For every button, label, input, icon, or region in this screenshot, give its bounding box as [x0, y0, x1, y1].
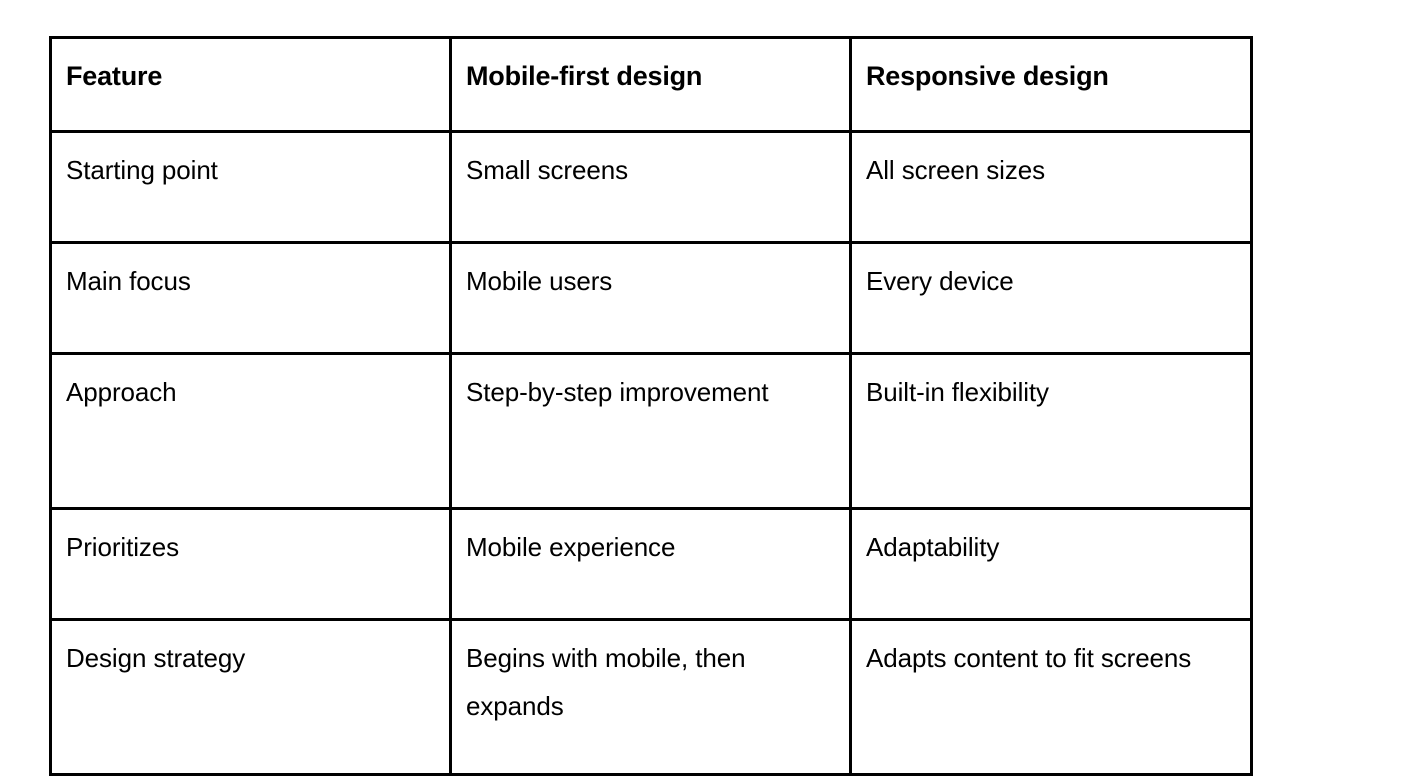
- cell-mobile-first: Begins with mobile, then expands: [451, 620, 851, 775]
- cell-feature-text: Approach: [66, 368, 435, 416]
- cell-feature: Approach: [51, 354, 451, 509]
- cell-responsive: Every device: [851, 243, 1252, 354]
- cell-mobile-first-text: Mobile users: [466, 257, 835, 305]
- table-body: Starting point Small screens All screen …: [51, 132, 1252, 775]
- page-canvas: Feature Mobile-first design Responsive d…: [0, 0, 1414, 644]
- cell-feature: Prioritizes: [51, 509, 451, 620]
- cell-mobile-first-text: Small screens: [466, 146, 835, 194]
- cell-responsive: Adapts content to fit screens: [851, 620, 1252, 775]
- column-header-feature-label: Feature: [66, 52, 435, 100]
- cell-feature-text: Starting point: [66, 146, 435, 194]
- cell-responsive-text: Built-in flexibility: [866, 368, 1236, 416]
- cell-responsive: All screen sizes: [851, 132, 1252, 243]
- comparison-table: Feature Mobile-first design Responsive d…: [49, 36, 1253, 776]
- cell-mobile-first-text: Step-by-step improvement: [466, 368, 835, 416]
- cell-feature-text: Main focus: [66, 257, 435, 305]
- table-header-row: Feature Mobile-first design Responsive d…: [51, 38, 1252, 132]
- column-header-responsive: Responsive design: [851, 38, 1252, 132]
- table-row: Approach Step-by-step improvement Built-…: [51, 354, 1252, 509]
- column-header-feature: Feature: [51, 38, 451, 132]
- cell-mobile-first-text: Begins with mobile, then expands: [466, 634, 835, 730]
- table-row: Design strategy Begins with mobile, then…: [51, 620, 1252, 775]
- cell-mobile-first: Mobile experience: [451, 509, 851, 620]
- column-header-mobile-first-label: Mobile-first design: [466, 52, 835, 100]
- cell-responsive: Built-in flexibility: [851, 354, 1252, 509]
- cell-responsive: Adaptability: [851, 509, 1252, 620]
- cell-responsive-text: Every device: [866, 257, 1236, 305]
- cell-feature: Design strategy: [51, 620, 451, 775]
- cell-feature: Main focus: [51, 243, 451, 354]
- table-row: Starting point Small screens All screen …: [51, 132, 1252, 243]
- table-row: Prioritizes Mobile experience Adaptabili…: [51, 509, 1252, 620]
- cell-feature-text: Design strategy: [66, 634, 435, 682]
- table-row: Main focus Mobile users Every device: [51, 243, 1252, 354]
- table-header: Feature Mobile-first design Responsive d…: [51, 38, 1252, 132]
- cell-mobile-first: Small screens: [451, 132, 851, 243]
- cell-feature: Starting point: [51, 132, 451, 243]
- cell-responsive-text: Adapts content to fit screens: [866, 634, 1236, 682]
- cell-responsive-text: All screen sizes: [866, 146, 1236, 194]
- cell-mobile-first: Step-by-step improvement: [451, 354, 851, 509]
- cell-responsive-text: Adaptability: [866, 523, 1236, 571]
- column-header-responsive-label: Responsive design: [866, 52, 1236, 100]
- cell-mobile-first-text: Mobile experience: [466, 523, 835, 571]
- cell-mobile-first: Mobile users: [451, 243, 851, 354]
- column-header-mobile-first: Mobile-first design: [451, 38, 851, 132]
- cell-feature-text: Prioritizes: [66, 523, 435, 571]
